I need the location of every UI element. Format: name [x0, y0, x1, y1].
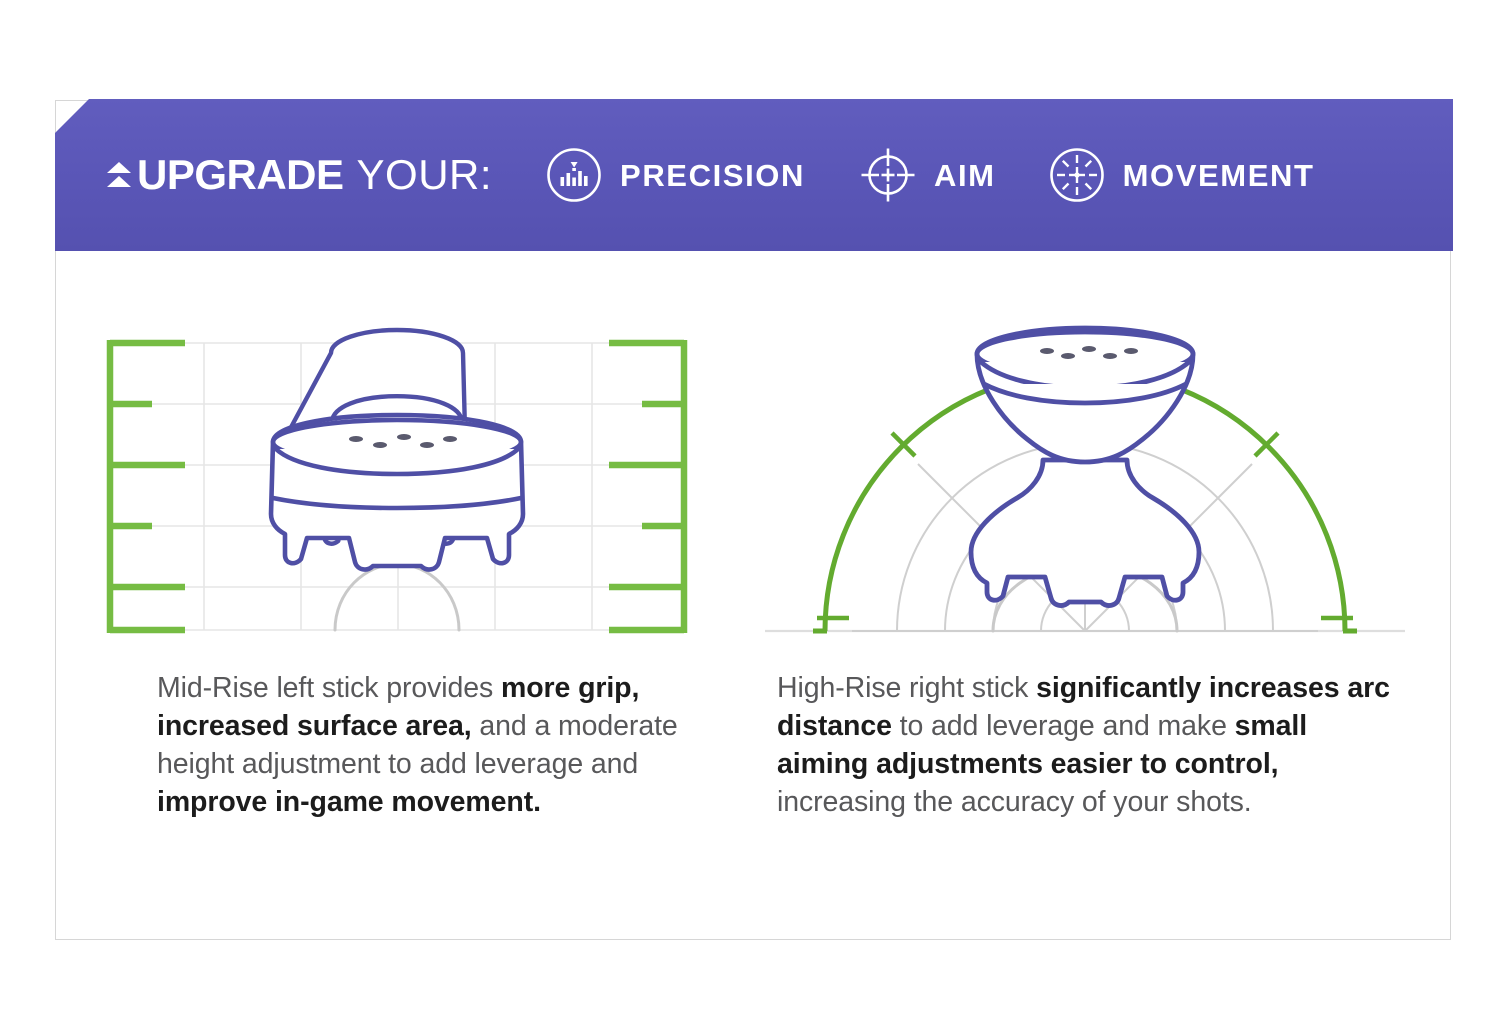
header-upgrade-word: UPGRADE — [137, 154, 344, 196]
panel-high-rise-right: High-Rise right stick significantly incr… — [755, 300, 1415, 940]
upgrade-header-banner: UPGRADE YOUR: PRECISI — [55, 99, 1453, 251]
high-rise-cap — [971, 328, 1199, 605]
diagram-panels: Mid-Rise left stick provides more grip, … — [55, 300, 1451, 940]
crosshair-target-icon — [859, 146, 917, 204]
caption-right: High-Rise right stick significantly incr… — [777, 670, 1402, 822]
high-rise-right-stick-arc-diagram — [755, 300, 1415, 650]
mid-rise-left-stick-grid-diagram — [67, 300, 727, 650]
double-up-arrow-icon — [107, 162, 131, 187]
feature-aim-label: AIM — [934, 160, 996, 191]
feature-movement-label: MOVEMENT — [1123, 160, 1315, 191]
movement-burst-icon — [1048, 146, 1106, 204]
header-your-word: YOUR: — [357, 154, 493, 196]
feature-aim: AIM — [859, 146, 996, 204]
feature-precision-label: PRECISION — [620, 160, 805, 191]
caption-right-part-0: High-Rise right stick — [777, 672, 1036, 704]
caption-right-part-4: increasing the accuracy of your shots. — [777, 786, 1252, 818]
mid-rise-cap — [271, 415, 523, 569]
caption-left-part-3: improve in-game movement. — [157, 786, 541, 818]
feature-movement: MOVEMENT — [1048, 146, 1315, 204]
caption-left-part-0: Mid-Rise left stick provides — [157, 672, 501, 704]
infographic-root: UPGRADE YOUR: PRECISI — [0, 0, 1500, 1024]
precision-meter-icon — [545, 146, 603, 204]
panel-mid-rise-left: Mid-Rise left stick provides more grip, … — [67, 300, 727, 940]
caption-left: Mid-Rise left stick provides more grip, … — [157, 670, 687, 822]
caption-right-part-2: to add leverage and make — [892, 710, 1235, 742]
feature-precision: PRECISION — [545, 146, 805, 204]
